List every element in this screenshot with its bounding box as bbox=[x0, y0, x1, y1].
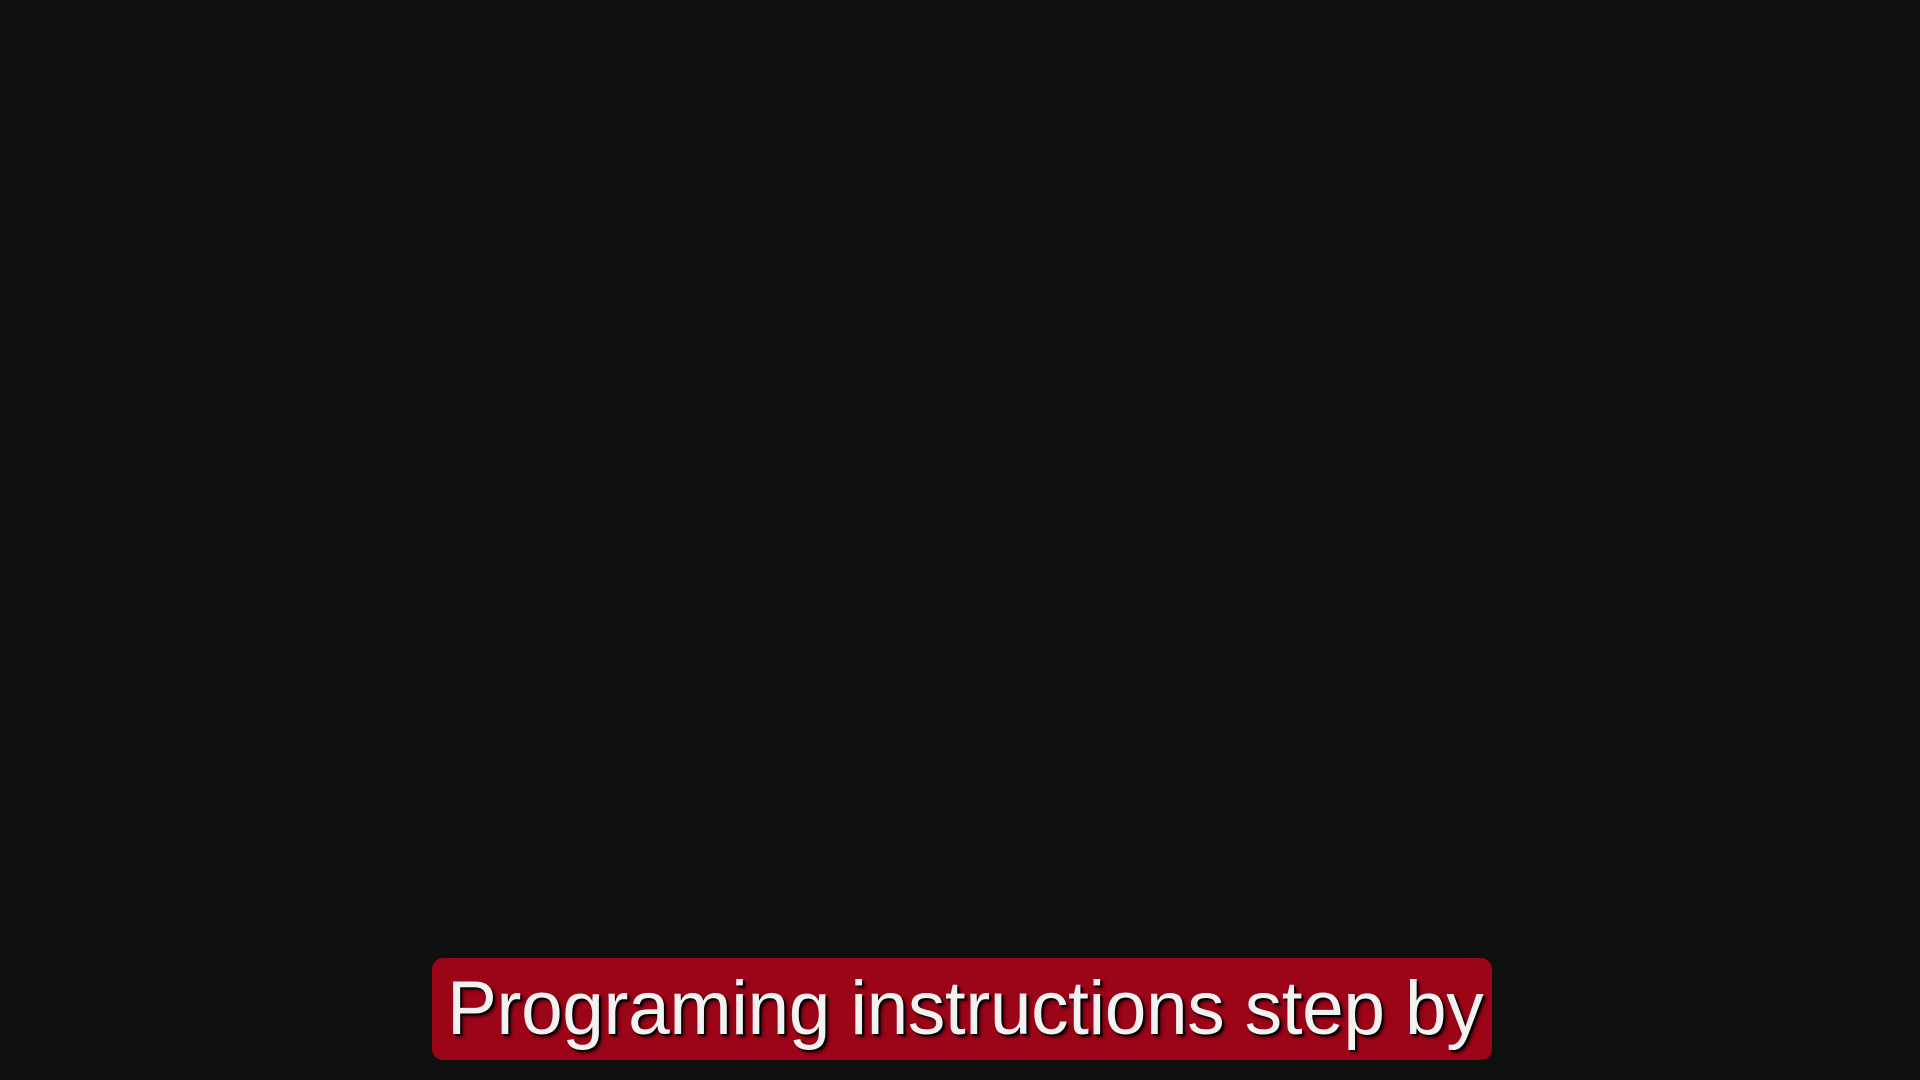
video-stage bbox=[0, 0, 1920, 1080]
screen-root: Programing instructions step by step bbox=[0, 0, 1920, 1080]
caption-banner: Programing instructions step by step bbox=[432, 958, 1492, 1060]
caption-text: Programing instructions step by step bbox=[447, 971, 1463, 1047]
